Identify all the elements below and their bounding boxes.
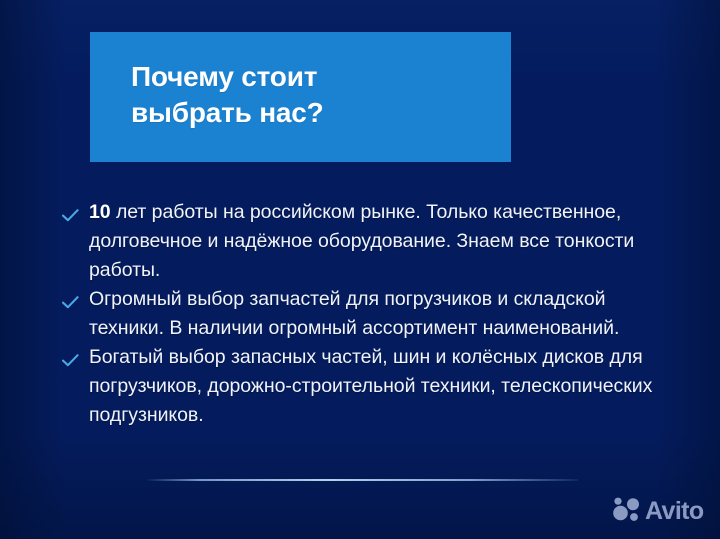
slide-canvas: Почему стоит выбрать нас? 10 лет работы …: [0, 0, 720, 539]
list-item: Богатый выбор запасных частей, шин и кол…: [62, 343, 682, 430]
horizontal-divider: [148, 479, 578, 481]
page-title: Почему стоит выбрать нас?: [131, 59, 324, 131]
list-item: 10 лет работы на российском рынке. Тольк…: [62, 198, 682, 285]
check-icon: [62, 201, 89, 222]
avito-wordmark: Avito: [645, 499, 704, 524]
list-item-text: Огромный выбор запчастей для погрузчиков…: [89, 285, 682, 343]
title-banner: Почему стоит выбрать нас?: [90, 32, 511, 162]
list-item-body: Богатый выбор запасных частей, шин и кол…: [89, 346, 652, 426]
list-item-body: лет работы на российском рынке. Только к…: [89, 201, 634, 281]
avito-circles-icon: [612, 496, 642, 527]
list-item-text: Богатый выбор запасных частей, шин и кол…: [89, 343, 682, 430]
list-item-lead: 10: [89, 201, 111, 223]
benefits-list: 10 лет работы на российском рынке. Тольк…: [62, 198, 682, 430]
list-item: Огромный выбор запчастей для погрузчиков…: [62, 285, 682, 343]
list-item-text: 10 лет работы на российском рынке. Тольк…: [89, 198, 682, 285]
list-item-body: Огромный выбор запчастей для погрузчиков…: [89, 288, 619, 339]
check-icon: [62, 288, 89, 309]
check-icon: [62, 346, 89, 367]
avito-watermark: Avito: [612, 496, 704, 527]
